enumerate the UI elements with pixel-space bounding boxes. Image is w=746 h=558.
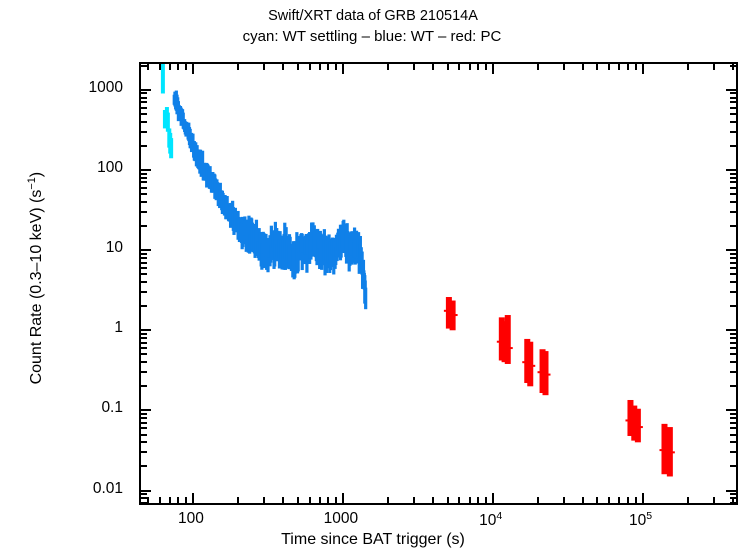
x-tick-minor-top bbox=[177, 63, 179, 70]
y-tick-minor bbox=[140, 273, 147, 275]
x-tick-label: 100 bbox=[178, 510, 204, 528]
x-tick-minor-top bbox=[282, 63, 284, 70]
x-tick-major-top bbox=[192, 63, 194, 74]
y-tick-label: 100 bbox=[97, 159, 123, 177]
x-tick-minor bbox=[319, 497, 321, 504]
x-tick-minor bbox=[297, 497, 299, 504]
wt-settling-point bbox=[169, 138, 173, 158]
y-tick-minor-right bbox=[730, 434, 737, 436]
x-tick-minor-top bbox=[582, 63, 584, 70]
x-tick-major bbox=[342, 493, 344, 504]
y-tick-minor-right bbox=[730, 451, 737, 453]
y-tick-minor bbox=[140, 385, 147, 387]
x-tick-minor-top bbox=[169, 63, 171, 70]
x-tick-minor-top bbox=[458, 63, 460, 70]
x-tick-minor bbox=[387, 497, 389, 504]
x-tick-minor-top bbox=[687, 63, 689, 70]
y-tick-minor bbox=[140, 181, 147, 183]
y-tick-label: 1000 bbox=[89, 79, 123, 97]
x-tick-minor-top bbox=[563, 63, 565, 70]
y-tick-minor-right bbox=[730, 201, 737, 203]
x-tick-minor-top bbox=[713, 63, 715, 70]
y-tick-minor bbox=[140, 145, 147, 147]
x-tick-minor-top bbox=[335, 63, 337, 70]
x-tick-minor-top bbox=[618, 63, 620, 70]
y-tick-minor-right bbox=[730, 225, 737, 227]
x-tick-label: 105 bbox=[629, 510, 652, 530]
x-tick-minor-top bbox=[537, 63, 539, 70]
y-tick-minor-right bbox=[730, 177, 737, 179]
y-tick-major-right bbox=[726, 169, 737, 171]
y-tick-minor-right bbox=[730, 107, 737, 109]
y-tick-minor-right bbox=[730, 253, 737, 255]
y-tick-minor-right bbox=[730, 181, 737, 183]
x-tick-minor-top bbox=[159, 63, 161, 70]
y-tick-minor bbox=[140, 101, 147, 103]
x-tick-minor bbox=[563, 497, 565, 504]
y-tick-minor bbox=[140, 253, 147, 255]
y-tick-major bbox=[140, 329, 151, 331]
y-tick-minor-right bbox=[730, 267, 737, 269]
y-tick-major bbox=[140, 249, 151, 251]
x-tick-major bbox=[492, 493, 494, 504]
y-tick-major bbox=[140, 169, 151, 171]
x-tick-minor-top bbox=[469, 63, 471, 70]
x-tick-minor bbox=[413, 497, 415, 504]
pc-point bbox=[635, 409, 641, 443]
y-tick-major bbox=[140, 89, 151, 91]
y-tick-major bbox=[140, 490, 151, 492]
y-tick-minor bbox=[140, 337, 147, 339]
y-tick-minor-right bbox=[730, 121, 737, 123]
x-tick-major bbox=[192, 493, 194, 504]
x-tick-minor-top bbox=[309, 63, 311, 70]
pc-point-marker bbox=[541, 374, 551, 376]
y-tick-minor bbox=[140, 413, 147, 415]
wt-point bbox=[364, 288, 367, 310]
x-tick-minor-top bbox=[447, 63, 449, 70]
y-tick-minor bbox=[140, 451, 147, 453]
data-layer bbox=[141, 64, 736, 503]
x-tick-minor bbox=[263, 497, 265, 504]
x-tick-minor bbox=[432, 497, 434, 504]
y-tick-minor-right bbox=[730, 417, 737, 419]
y-tick-label: 1 bbox=[114, 319, 123, 337]
pc-point bbox=[527, 342, 533, 387]
y-tick-minor-right bbox=[730, 385, 737, 387]
y-tick-minor-right bbox=[730, 262, 737, 264]
y-tick-label: 0.01 bbox=[93, 480, 123, 498]
y-tick-label: 10 bbox=[106, 239, 123, 257]
x-tick-minor-top bbox=[327, 63, 329, 70]
y-tick-minor-right bbox=[730, 273, 737, 275]
x-tick-minor bbox=[147, 497, 149, 504]
y-tick-minor-right bbox=[730, 493, 737, 495]
y-tick-minor-right bbox=[730, 193, 737, 195]
y-tick-major-right bbox=[726, 249, 737, 251]
y-tick-minor bbox=[140, 305, 147, 307]
y-tick-minor bbox=[140, 347, 147, 349]
pc-point-marker bbox=[665, 451, 675, 453]
x-tick-minor-top bbox=[635, 63, 637, 70]
x-tick-label: 1000 bbox=[324, 510, 358, 528]
x-tick-minor bbox=[537, 497, 539, 504]
y-tick-minor bbox=[140, 177, 147, 179]
x-tick-minor-top bbox=[477, 63, 479, 70]
pc-point bbox=[661, 424, 667, 474]
y-tick-minor-right bbox=[730, 413, 737, 415]
x-tick-minor bbox=[687, 497, 689, 504]
y-tick-minor-right bbox=[730, 333, 737, 335]
y-tick-minor-right bbox=[730, 101, 737, 103]
y-tick-minor bbox=[140, 434, 147, 436]
y-tick-minor bbox=[140, 371, 147, 373]
y-tick-minor bbox=[140, 342, 147, 344]
y-tick-minor bbox=[140, 201, 147, 203]
y-tick-major bbox=[140, 409, 151, 411]
pc-point-marker bbox=[525, 365, 535, 367]
y-tick-minor bbox=[140, 361, 147, 363]
x-tick-minor bbox=[635, 497, 637, 504]
y-tick-minor-right bbox=[730, 145, 737, 147]
y-tick-minor-right bbox=[730, 441, 737, 443]
y-tick-minor-right bbox=[730, 257, 737, 259]
y-tick-minor bbox=[140, 107, 147, 109]
y-tick-minor-right bbox=[730, 422, 737, 424]
x-tick-minor bbox=[713, 497, 715, 504]
x-tick-minor bbox=[732, 497, 734, 504]
y-tick-minor-right bbox=[730, 131, 737, 133]
plot-canvas bbox=[141, 64, 736, 503]
y-tick-major-right bbox=[726, 329, 737, 331]
x-tick-minor bbox=[169, 497, 171, 504]
y-tick-minor bbox=[140, 333, 147, 335]
y-tick-minor-right bbox=[730, 342, 737, 344]
y-tick-minor-right bbox=[730, 337, 737, 339]
y-tick-minor bbox=[140, 97, 147, 99]
y-tick-minor bbox=[140, 422, 147, 424]
y-tick-minor bbox=[140, 441, 147, 443]
y-tick-minor bbox=[140, 257, 147, 259]
y-tick-minor bbox=[140, 465, 147, 467]
x-tick-minor-top bbox=[319, 63, 321, 70]
y-tick-major-right bbox=[726, 490, 737, 492]
y-tick-minor bbox=[140, 291, 147, 293]
y-tick-minor bbox=[140, 262, 147, 264]
x-tick-minor-top bbox=[297, 63, 299, 70]
y-tick-minor-right bbox=[730, 291, 737, 293]
x-tick-minor bbox=[282, 497, 284, 504]
x-tick-minor-top bbox=[147, 63, 149, 70]
x-tick-label: 104 bbox=[479, 510, 502, 530]
x-tick-major bbox=[642, 493, 644, 504]
y-tick-minor-right bbox=[730, 371, 737, 373]
x-tick-minor-top bbox=[185, 63, 187, 70]
x-tick-minor-top bbox=[627, 63, 629, 70]
x-tick-minor bbox=[485, 497, 487, 504]
y-tick-minor-right bbox=[730, 113, 737, 115]
y-tick-minor bbox=[140, 353, 147, 355]
pc-point bbox=[505, 315, 511, 364]
x-tick-major-top bbox=[642, 63, 644, 74]
x-tick-minor-top bbox=[485, 63, 487, 70]
x-tick-major-top bbox=[342, 63, 344, 74]
y-tick-minor bbox=[140, 193, 147, 195]
y-tick-minor-right bbox=[730, 305, 737, 307]
x-tick-minor bbox=[627, 497, 629, 504]
x-tick-minor bbox=[447, 497, 449, 504]
plot-area bbox=[139, 62, 738, 505]
chart-title: Swift/XRT data of GRB 210514A bbox=[0, 8, 746, 24]
x-tick-minor bbox=[458, 497, 460, 504]
y-tick-minor-right bbox=[730, 187, 737, 189]
y-tick-minor bbox=[140, 187, 147, 189]
x-tick-minor bbox=[177, 497, 179, 504]
x-tick-minor bbox=[582, 497, 584, 504]
x-tick-minor-top bbox=[387, 63, 389, 70]
y-axis-tick-labels: 10001001010.10.01 bbox=[0, 62, 133, 505]
y-tick-minor-right bbox=[730, 361, 737, 363]
x-tick-minor-top bbox=[596, 63, 598, 70]
x-tick-minor-top bbox=[608, 63, 610, 70]
wt-settling-point bbox=[161, 64, 165, 93]
x-tick-minor-top bbox=[432, 63, 434, 70]
y-tick-minor bbox=[140, 281, 147, 283]
y-tick-minor bbox=[140, 121, 147, 123]
y-tick-minor-right bbox=[730, 281, 737, 283]
y-tick-major-right bbox=[726, 89, 737, 91]
y-tick-minor-right bbox=[730, 347, 737, 349]
y-tick-minor bbox=[140, 225, 147, 227]
y-tick-minor-right bbox=[730, 97, 737, 99]
x-tick-minor bbox=[469, 497, 471, 504]
y-tick-major-right bbox=[726, 409, 737, 411]
y-tick-minor-right bbox=[730, 211, 737, 213]
x-tick-minor-top bbox=[237, 63, 239, 70]
x-tick-minor bbox=[159, 497, 161, 504]
y-tick-minor bbox=[140, 131, 147, 133]
x-tick-minor bbox=[477, 497, 479, 504]
pc-point-marker bbox=[633, 426, 643, 428]
y-tick-minor-right bbox=[730, 92, 737, 94]
y-tick-minor-right bbox=[730, 353, 737, 355]
y-tick-minor bbox=[140, 113, 147, 115]
y-tick-minor bbox=[140, 267, 147, 269]
x-tick-minor bbox=[335, 497, 337, 504]
y-tick-minor bbox=[140, 173, 147, 175]
pc-point bbox=[543, 351, 549, 395]
y-tick-minor-right bbox=[730, 173, 737, 175]
x-tick-minor bbox=[309, 497, 311, 504]
x-tick-minor-top bbox=[263, 63, 265, 70]
x-tick-minor bbox=[608, 497, 610, 504]
x-tick-major-top bbox=[492, 63, 494, 74]
x-tick-minor bbox=[327, 497, 329, 504]
x-tick-minor bbox=[185, 497, 187, 504]
chart-subtitle: cyan: WT settling – blue: WT – red: PC bbox=[137, 28, 607, 45]
y-tick-minor bbox=[140, 493, 147, 495]
pc-point-marker bbox=[503, 347, 513, 349]
y-tick-label: 0.1 bbox=[101, 399, 123, 417]
x-tick-minor bbox=[618, 497, 620, 504]
x-tick-minor-top bbox=[413, 63, 415, 70]
x-tick-minor bbox=[237, 497, 239, 504]
pc-point-marker bbox=[448, 314, 458, 316]
x-axis-title: Time since BAT trigger (s) bbox=[0, 531, 746, 549]
y-tick-minor bbox=[140, 427, 147, 429]
chart-root: Swift/XRT data of GRB 210514A cyan: WT s… bbox=[0, 0, 746, 558]
x-tick-minor bbox=[596, 497, 598, 504]
y-tick-minor-right bbox=[730, 465, 737, 467]
y-tick-minor bbox=[140, 417, 147, 419]
y-tick-minor bbox=[140, 211, 147, 213]
x-tick-minor-top bbox=[732, 63, 734, 70]
y-tick-minor-right bbox=[730, 427, 737, 429]
y-tick-minor bbox=[140, 92, 147, 94]
